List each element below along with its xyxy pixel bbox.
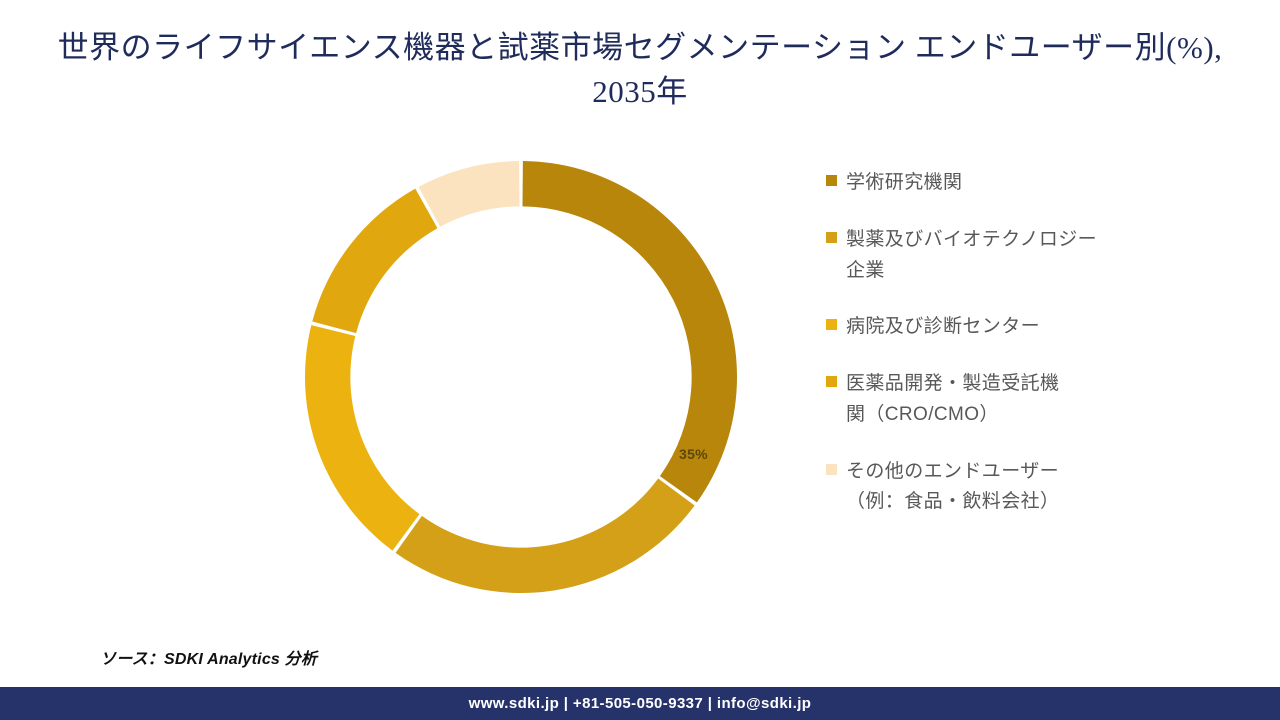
donut-slice-group bbox=[305, 161, 737, 593]
footer-bar: www.sdki.jp | +81-505-050-9337 | info@sd… bbox=[0, 687, 1280, 720]
donut-slice[interactable] bbox=[305, 325, 419, 551]
chart-legend: 学術研究機関 製薬及びバイオテクノロジー 企業 病院及び診断センター 医薬品開発… bbox=[826, 168, 1156, 544]
page-title: 世界のライフサイエンス機器と試薬市場セグメンテーション エンドユーザー別(%),… bbox=[40, 26, 1240, 114]
legend-item-label: 製薬及びバイオテクノロジー 企業 bbox=[846, 225, 1097, 287]
legend-swatch-icon bbox=[826, 464, 837, 475]
legend-item-academic-research[interactable]: 学術研究機関 bbox=[826, 168, 1156, 199]
footer-contact-text: www.sdki.jp | +81-505-050-9337 | info@sd… bbox=[469, 695, 812, 712]
slice-label-35-percent: 35% bbox=[679, 446, 708, 462]
legend-swatch-icon bbox=[826, 319, 837, 330]
legend-item-label: 医薬品開発・製造受託機 関（CRO/CMO） bbox=[846, 369, 1059, 431]
donut-chart: 35% bbox=[305, 161, 737, 593]
legend-item-pharma-biotech[interactable]: 製薬及びバイオテクノロジー 企業 bbox=[826, 225, 1156, 287]
legend-swatch-icon bbox=[826, 376, 837, 387]
legend-item-label: 学術研究機関 bbox=[846, 168, 962, 199]
donut-chart-svg bbox=[305, 161, 737, 593]
source-note: ソース：SDKI Analytics 分析 bbox=[100, 645, 317, 669]
donut-slice[interactable] bbox=[419, 161, 520, 227]
legend-item-label: 病院及び診断センター bbox=[846, 312, 1040, 343]
legend-item-cro-cmo[interactable]: 医薬品開発・製造受託機 関（CRO/CMO） bbox=[826, 369, 1156, 431]
legend-swatch-icon bbox=[826, 175, 837, 186]
legend-swatch-icon bbox=[826, 232, 837, 243]
legend-item-label: その他のエンドユーザー （例：食品・飲料会社） bbox=[846, 457, 1059, 519]
legend-item-other-end-users[interactable]: その他のエンドユーザー （例：食品・飲料会社） bbox=[826, 457, 1156, 519]
legend-item-hospital-diagnostic[interactable]: 病院及び診断センター bbox=[826, 312, 1156, 343]
donut-slice[interactable] bbox=[396, 479, 695, 593]
donut-slice[interactable] bbox=[312, 189, 437, 333]
